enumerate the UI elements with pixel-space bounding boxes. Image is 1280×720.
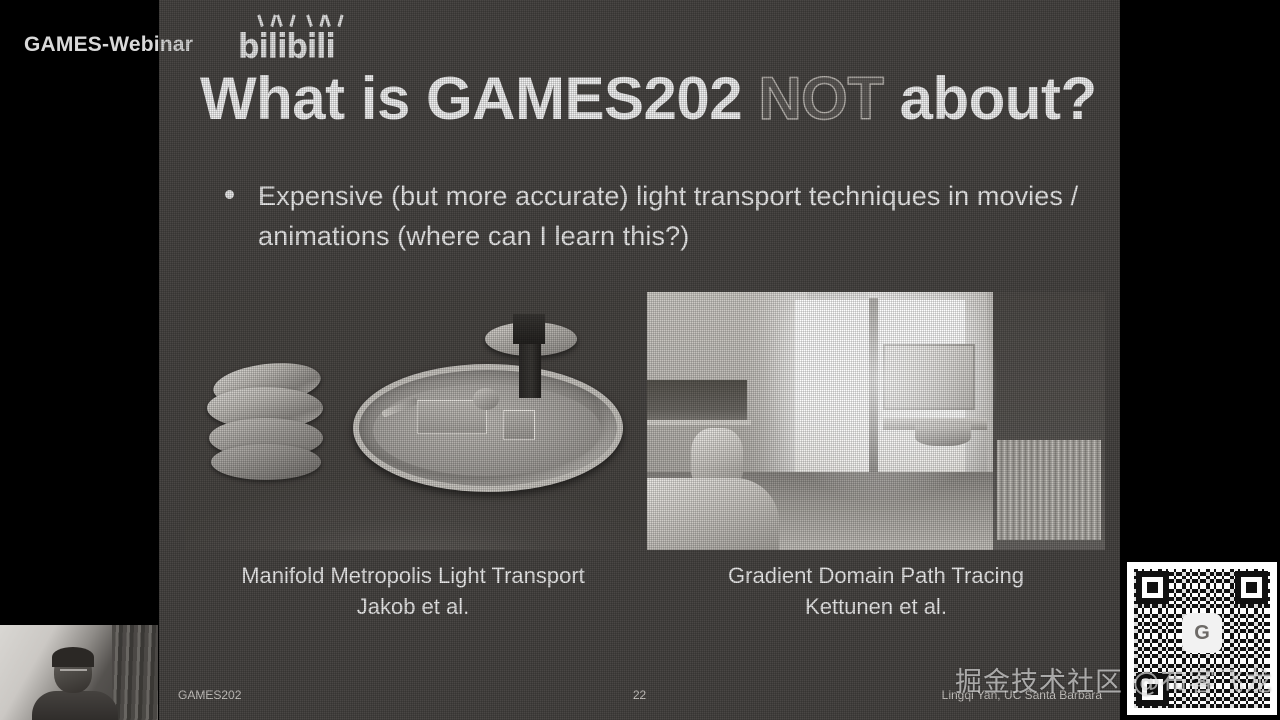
figure-manifold-metropolis-render <box>185 292 641 550</box>
qr-center-logo-icon: G <box>1182 613 1222 653</box>
shelf-shape <box>647 380 747 422</box>
door-panel-shape <box>997 440 1101 540</box>
shelf-lip-shape <box>647 420 751 425</box>
webcam-person-body <box>32 691 118 720</box>
bilibili-logo-icon: bilibili <box>238 28 335 67</box>
bathroom-scene-image <box>647 292 1105 550</box>
screen: What is GAMES202 NOT about? Expensive (b… <box>0 0 1280 720</box>
caption-title: Manifold Metropolis Light Transport <box>185 560 641 591</box>
bullet-list: Expensive (but more accurate) light tran… <box>221 176 1101 256</box>
stream-header: GAMES-Webinar bilibili <box>0 0 1280 78</box>
bullet-dot-icon <box>225 190 234 199</box>
webcam-curtain <box>112 625 158 720</box>
list-item: Expensive (but more accurate) light tran… <box>221 176 1101 256</box>
qr-finder-icon <box>1235 571 1268 604</box>
webinar-label: GAMES-Webinar <box>24 33 193 57</box>
window-glare-shape <box>767 292 997 502</box>
pedestal-stem-shape <box>519 342 541 398</box>
watermark: 掘金技术社区 @布客飞龙 <box>955 660 1273 699</box>
cutlery-shape <box>473 388 499 410</box>
caption-author: Kettunen et al. <box>647 591 1105 622</box>
figure-group: Manifold Metropolis Light Transport Jako… <box>185 292 1105 550</box>
figure-caption-right: Gradient Domain Path Tracing Kettunen et… <box>647 560 1105 622</box>
pedestal-cup-shape <box>513 314 545 344</box>
webcam-person-hair <box>52 647 94 667</box>
qr-finder-icon <box>1136 571 1169 604</box>
bullet-text: Expensive (but more accurate) light tran… <box>258 181 1078 251</box>
caption-title: Gradient Domain Path Tracing <box>647 560 1105 591</box>
silverware-scene-image <box>185 292 641 550</box>
figure-gradient-domain-path-tracing-render <box>647 292 1105 550</box>
slide-canvas: What is GAMES202 NOT about? Expensive (b… <box>159 0 1120 720</box>
plate-shape <box>211 444 321 480</box>
figure-caption-left: Manifold Metropolis Light Transport Jako… <box>185 560 641 622</box>
presenter-webcam[interactable] <box>0 625 158 720</box>
tub-shape <box>647 478 779 550</box>
highlight-box-shape <box>503 410 535 440</box>
webcam-person-glasses <box>60 669 87 675</box>
caption-author: Jakob et al. <box>185 591 641 622</box>
